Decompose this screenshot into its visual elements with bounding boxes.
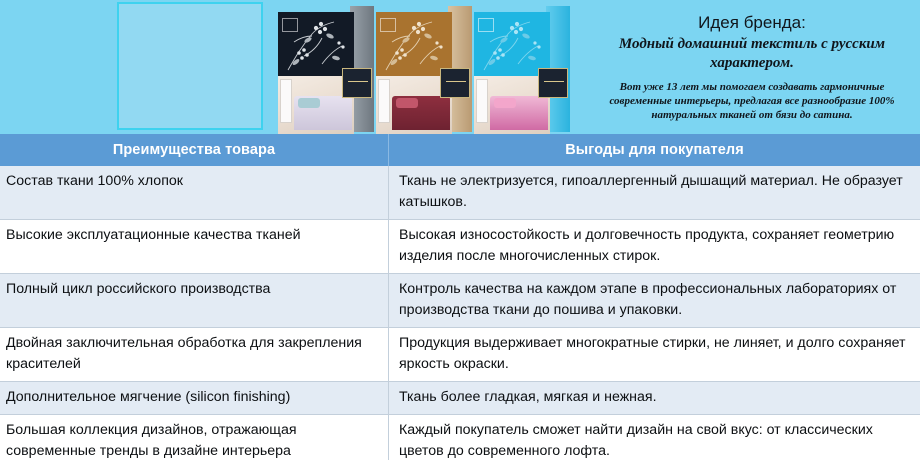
cell-benefit: Ткань не электризуется, гипоаллергенный … bbox=[389, 166, 920, 219]
bed-pillow bbox=[494, 98, 516, 108]
box-spec-label bbox=[280, 79, 292, 123]
brand-idea-panel: Идея бренда: Модный домашний текстиль с … bbox=[584, 0, 920, 134]
brand-badge bbox=[342, 68, 372, 98]
brand-description: Вот уже 13 лет мы помогаем создавать гар… bbox=[592, 80, 912, 122]
cell-advantage: Двойная заключительная обработка для зак… bbox=[0, 328, 389, 381]
hero-banner: Идея бренда: Модный домашний текстиль с … bbox=[0, 0, 920, 134]
brand-idea-title: Идея бренда: bbox=[592, 12, 912, 34]
bedding-box-cyan bbox=[474, 12, 570, 134]
box-spec-label bbox=[378, 79, 390, 123]
brand-badge bbox=[538, 68, 568, 98]
cell-advantage: Высокие эксплуатационные качества тканей bbox=[0, 220, 389, 273]
cell-benefit: Продукция выдерживает многократные стирк… bbox=[389, 328, 920, 381]
cell-advantage: Большая коллекция дизайнов, отражающая с… bbox=[0, 415, 389, 460]
cell-benefit: Ткань более гладкая, мягкая и нежная. bbox=[389, 382, 920, 414]
cell-advantage: Состав ткани 100% хлопок bbox=[0, 166, 389, 219]
table-header-row: Преимущества товара Выгоды для покупател… bbox=[0, 134, 920, 166]
cell-benefit: Контроль качества на каждом этапе в проф… bbox=[389, 274, 920, 327]
box-corner-tag bbox=[478, 18, 494, 32]
brand-badge bbox=[440, 68, 470, 98]
box-corner-tag bbox=[282, 18, 298, 32]
bed-pillow bbox=[298, 98, 320, 108]
product-box-group bbox=[278, 4, 570, 134]
table-row: Высокие эксплуатационные качества тканей… bbox=[0, 219, 920, 273]
column-header-advantages: Преимущества товара bbox=[0, 134, 389, 166]
table-row: Большая коллекция дизайнов, отражающая с… bbox=[0, 414, 920, 460]
box-corner-tag bbox=[380, 18, 396, 32]
bedding-box-navy bbox=[278, 12, 374, 134]
page-root: Идея бренда: Модный домашний текстиль с … bbox=[0, 0, 920, 460]
cell-advantage: Дополнительное мягчение (silicon finishi… bbox=[0, 382, 389, 414]
cell-advantage: Полный цикл российского производства bbox=[0, 274, 389, 327]
benefits-table: Преимущества товара Выгоды для покупател… bbox=[0, 134, 920, 460]
box-spec-label bbox=[476, 79, 488, 123]
table-row: Полный цикл российского производства Кон… bbox=[0, 273, 920, 327]
column-header-benefits: Выгоды для покупателя bbox=[389, 134, 920, 166]
fabric-swatch-square bbox=[117, 2, 263, 130]
bedding-box-brown bbox=[376, 12, 472, 134]
table-row: Дополнительное мягчение (silicon finishi… bbox=[0, 381, 920, 414]
brand-slogan: Модный домашний текстиль с русским харак… bbox=[592, 35, 912, 73]
bed-pillow bbox=[396, 98, 418, 108]
cell-benefit: Каждый покупатель сможет найти дизайн на… bbox=[389, 415, 920, 460]
table-row: Двойная заключительная обработка для зак… bbox=[0, 327, 920, 381]
table-row: Состав ткани 100% хлопок Ткань не электр… bbox=[0, 166, 920, 219]
cell-benefit: Высокая износостойкость и долговечность … bbox=[389, 220, 920, 273]
